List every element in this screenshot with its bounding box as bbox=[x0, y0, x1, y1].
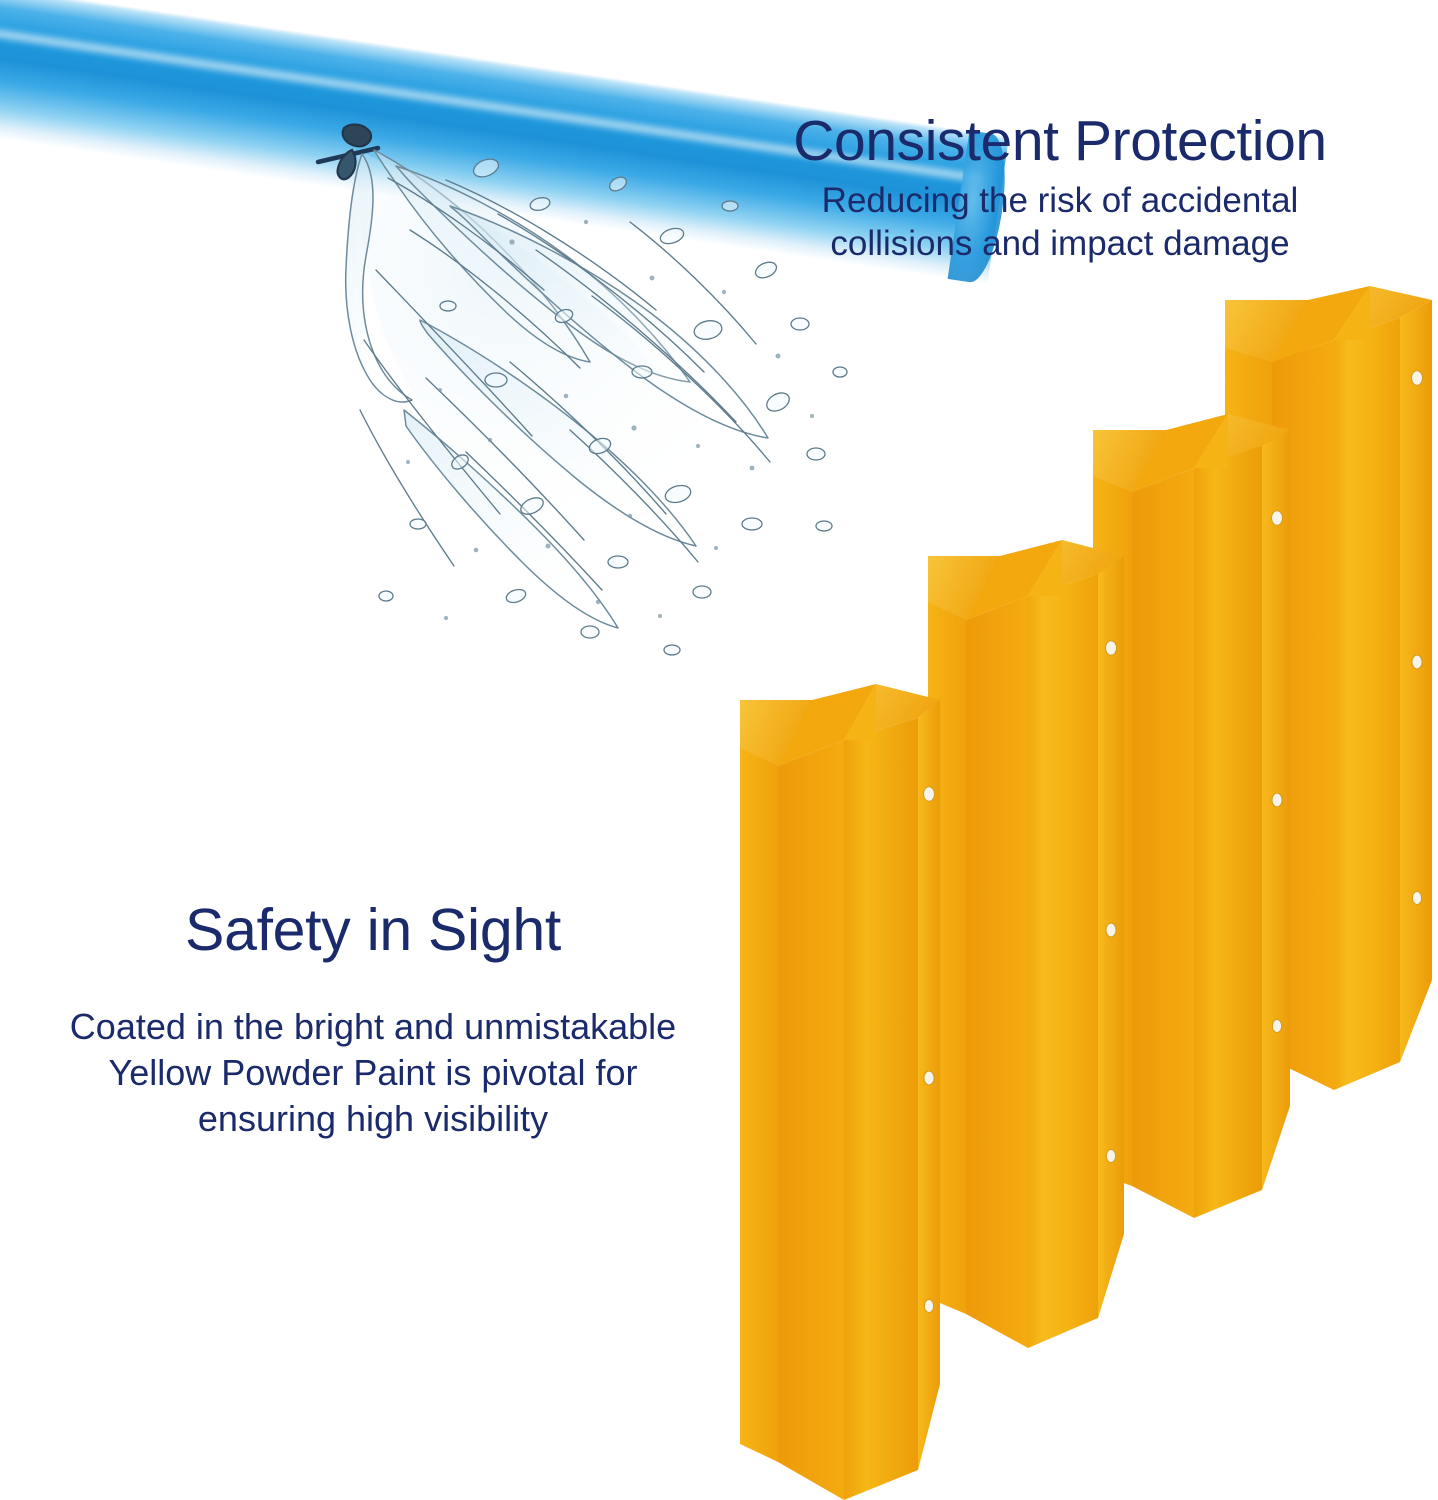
lower-subtitle-line-3: ensuring high visibility bbox=[18, 1096, 728, 1142]
headline-title: Consistent Protection bbox=[700, 112, 1420, 170]
column-guard-3 bbox=[1093, 414, 1290, 1218]
lower-text-block: Safety in Sight Coated in the bright and… bbox=[18, 900, 728, 1142]
headline-subtitle-line-1: Reducing the risk of accidental bbox=[700, 180, 1420, 223]
headline-subtitle-line-2: collisions and impact damage bbox=[700, 223, 1420, 266]
lower-subtitle: Coated in the bright and unmistakable Ye… bbox=[18, 1004, 728, 1142]
lower-title: Safety in Sight bbox=[18, 900, 728, 962]
lower-subtitle-line-1: Coated in the bright and unmistakable bbox=[18, 1004, 728, 1050]
lower-subtitle-line-2: Yellow Powder Paint is pivotal for bbox=[18, 1050, 728, 1096]
leak-point bbox=[318, 125, 378, 180]
headline-block: Consistent Protection Reducing the risk … bbox=[700, 112, 1420, 266]
mounting-holes-guard-3 bbox=[1272, 511, 1283, 1033]
headline-subtitle: Reducing the risk of accidental collisio… bbox=[700, 180, 1420, 265]
mounting-holes-guard-4 bbox=[1412, 371, 1423, 905]
mounting-holes-guard-1 bbox=[924, 787, 935, 1313]
column-guard-2 bbox=[928, 540, 1124, 1348]
column-guard-4 bbox=[1225, 286, 1432, 1090]
product-feature-graphic: Consistent Protection Reducing the risk … bbox=[0, 0, 1438, 1500]
mounting-holes-guard-2 bbox=[1106, 641, 1117, 1163]
water-specks bbox=[406, 220, 814, 620]
column-guard-1 bbox=[740, 684, 940, 1500]
